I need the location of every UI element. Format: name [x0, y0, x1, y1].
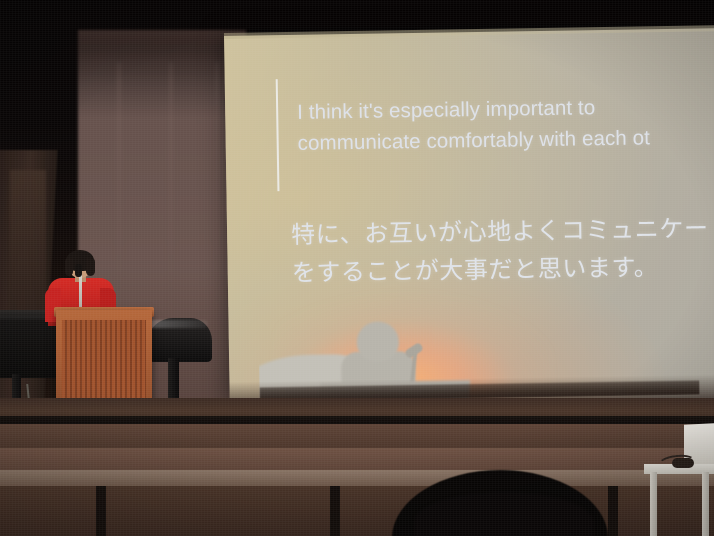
stage-step-gap — [96, 486, 106, 536]
projection-screen: I think it's especially important to com… — [224, 28, 714, 408]
speaker-hair-right — [86, 258, 95, 276]
slide-english-line-2: communicate comfortably with each ot — [297, 120, 714, 158]
slide-english-text: I think it's especially important to com… — [297, 89, 714, 158]
slide-japanese-line-1: 特に、お互いが心地よくコミュニケー — [291, 209, 714, 255]
equipment-table-leg-right — [702, 472, 709, 536]
speaker-hair-left — [65, 258, 73, 276]
left-wall-slab-inner — [10, 170, 46, 330]
projected-speaker-head — [357, 321, 400, 362]
microphone-head — [75, 264, 82, 277]
slide-accent-rule — [276, 79, 280, 191]
photo-scene: I think it's especially important to com… — [0, 0, 714, 536]
stage-step-gap — [330, 486, 340, 536]
stage-step-gap — [608, 486, 618, 536]
screen-surface: I think it's especially important to com… — [224, 28, 714, 408]
equipment-table-leg-left — [650, 472, 657, 536]
piano-highlight — [150, 320, 208, 328]
